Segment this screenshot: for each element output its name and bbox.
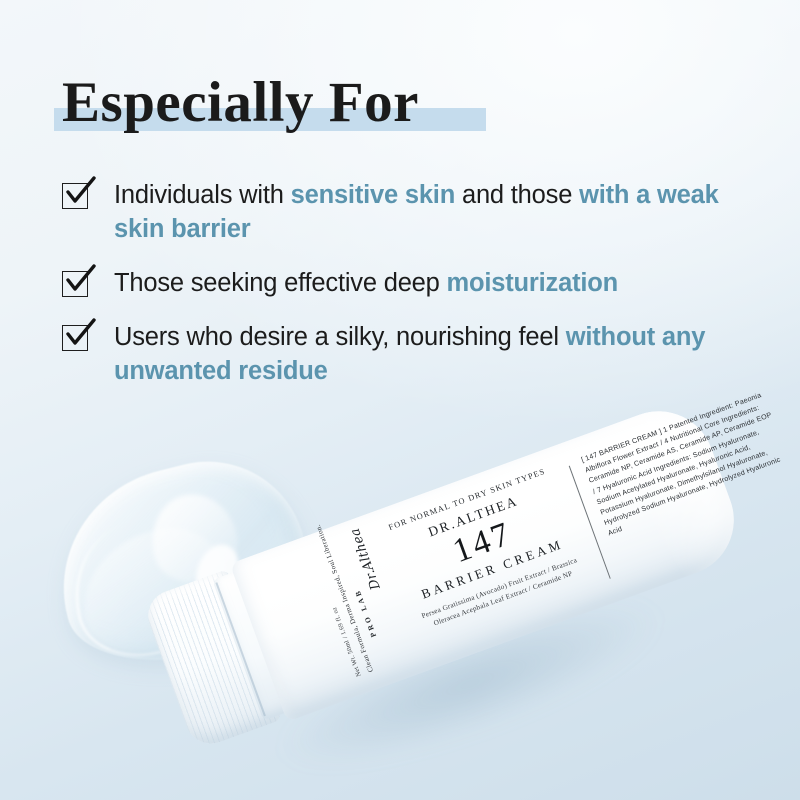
text-segment: Those seeking effective deep xyxy=(114,269,447,297)
benefits-checklist: Individuals with sensitive skin and thos… xyxy=(62,178,762,388)
checkbox-checked-icon xyxy=(62,271,90,299)
text-segment: Users who desire a silky, nourishing fee… xyxy=(114,323,566,351)
list-item: Those seeking effective deep moisturizat… xyxy=(62,266,762,300)
promo-slide: Especially For Individuals with sensitiv… xyxy=(0,0,800,800)
list-item-text: Individuals with sensitive skin and thos… xyxy=(114,178,762,246)
title-text: Especially For xyxy=(62,72,419,134)
list-item: Users who desire a silky, nourishing fee… xyxy=(62,320,762,388)
text-segment-emphasis: sensitive skin xyxy=(291,181,455,209)
list-item-text: Users who desire a silky, nourishing fee… xyxy=(114,320,762,388)
text-segment: Individuals with xyxy=(114,181,291,209)
page-title: Especially For xyxy=(62,72,582,138)
checkbox-checked-icon xyxy=(62,325,90,353)
text-segment-emphasis: moisturization xyxy=(447,269,618,297)
tube-front-label: FOR NORMAL TO DRY SKIN TYPES DR.ALTHEA 1… xyxy=(376,463,594,636)
product-tube: FOR NORMAL TO DRY SKIN TYPES DR.ALTHEA 1… xyxy=(150,430,770,790)
checkbox-checked-icon xyxy=(62,183,90,211)
list-item: Individuals with sensitive skin and thos… xyxy=(62,178,762,246)
list-item-text: Those seeking effective deep moisturizat… xyxy=(114,266,618,300)
text-segment: and those xyxy=(455,181,579,209)
